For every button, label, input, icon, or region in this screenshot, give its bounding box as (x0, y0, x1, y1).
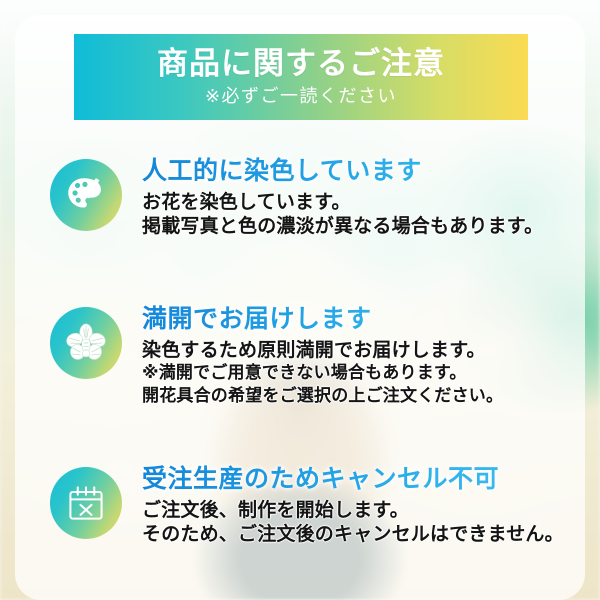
section-body: 人工的に染色しています お花を染色しています。 掲載写真と色の濃淡が異なる場合も… (142, 155, 543, 239)
section-line: ※満開でご用意できない場合もあります。 (142, 362, 503, 384)
section-line: 掲載写真と色の濃淡が異なる場合もあります。 (142, 214, 543, 239)
section-line: ご注文後、制作を開始します。 (142, 498, 564, 523)
section-title: 人工的に染色しています (142, 157, 543, 186)
orchid-flower-icon (50, 307, 122, 379)
notice-banner: 商品に関するご注意 ※必ずご一読ください 人工的に染色しています お花を染色して… (0, 0, 600, 600)
calendar-cancel-icon (50, 467, 122, 539)
section-body: 受注生産のためキャンセル不可 ご注文後、制作を開始します。 そのため、ご注文後の… (142, 463, 564, 547)
section-body: 満開でお届けします 染色するため原則満開でお届けします。 ※満開でご用意できない… (142, 303, 503, 407)
section-line: お花を染色しています。 (142, 190, 543, 215)
section-title: 満開でお届けします (142, 305, 503, 334)
page-title: 商品に関するご注意 (157, 48, 445, 81)
page-subtitle: ※必ずご一読ください (205, 88, 397, 106)
header-band: 商品に関するご注意 ※必ずご一読ください (74, 34, 528, 120)
section-title: 受注生産のためキャンセル不可 (142, 465, 564, 494)
section-line: そのため、ご注文後のキャンセルはできません。 (142, 522, 564, 547)
section-line: 開花具合の希望をご選択の上ご注文ください。 (142, 385, 503, 407)
notice-section-dyeing: 人工的に染色しています お花を染色しています。 掲載写真と色の濃淡が異なる場合も… (50, 155, 543, 239)
notice-section-full-bloom: 満開でお届けします 染色するため原則満開でお届けします。 ※満開でご用意できない… (50, 303, 503, 407)
notice-section-no-cancel: 受注生産のためキャンセル不可 ご注文後、制作を開始します。 そのため、ご注文後の… (50, 463, 564, 547)
section-line: 染色するため原則満開でお届けします。 (142, 338, 503, 363)
palette-brush-icon (50, 159, 122, 231)
